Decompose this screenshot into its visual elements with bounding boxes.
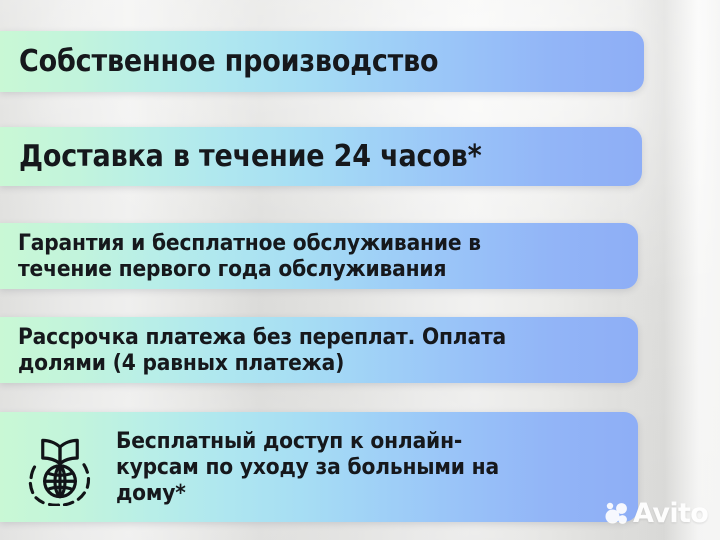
feature-banner-free-online-courses: Бесплатный доступ к онлайн- курсам по ух…: [0, 412, 638, 522]
feature-banner-label: Рассрочка платежа без переплат. Оплата д…: [18, 324, 506, 376]
feature-banner-installment-payment: Рассрочка платежа без переплат. Оплата д…: [0, 317, 638, 383]
feature-banner-label: Доставка в течение 24 часов*: [19, 141, 482, 173]
avito-wordmark: Avito: [633, 500, 708, 527]
feature-banner-warranty-free-service: Гарантия и бесплатное обслуживание в теч…: [0, 223, 638, 289]
feature-banner-label: Бесплатный доступ к онлайн- курсам по ух…: [116, 428, 499, 506]
promo-poster: Собственное производство Доставка в тече…: [0, 0, 720, 540]
feature-banner-label: Собственное производство: [19, 46, 438, 78]
feature-banner-own-production: Собственное производство: [0, 31, 644, 92]
feature-banner-label: Гарантия и бесплатное обслуживание в теч…: [18, 230, 481, 282]
book-globe-icon: [22, 428, 98, 506]
feature-banner-delivery-24h: Доставка в течение 24 часов*: [0, 127, 642, 186]
